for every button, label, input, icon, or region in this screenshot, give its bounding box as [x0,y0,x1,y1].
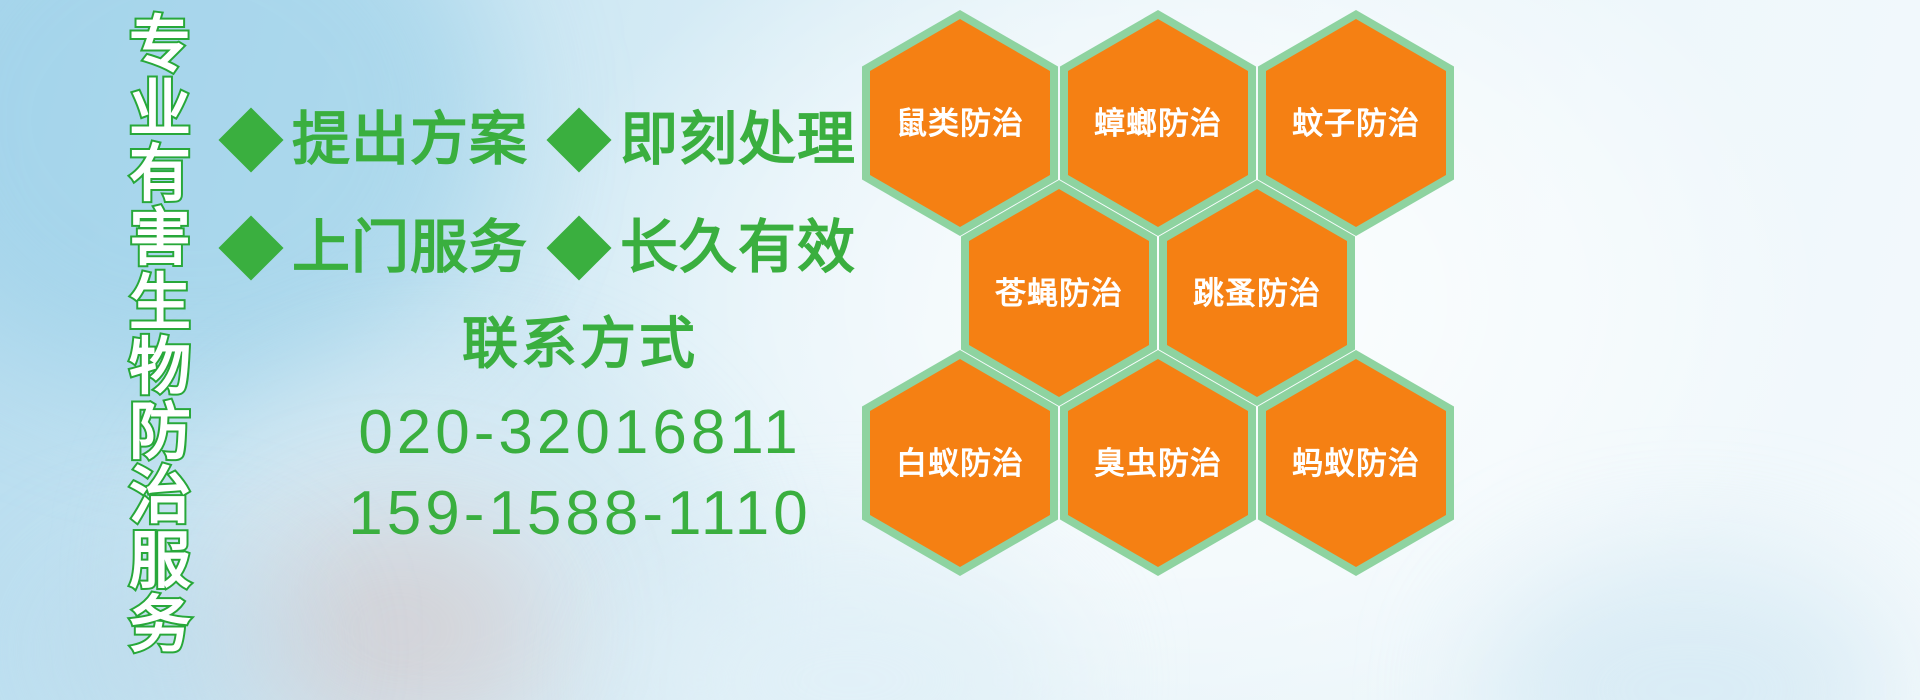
contact-title: 联系方式 [300,310,860,377]
feature-label: 上门服务 [292,219,528,277]
feature-row: 上门服务 长久有效 [228,194,868,302]
vertical-headline-char: 防 [129,401,191,465]
service-honeycomb: 鼠类防治蟑螂防治蚊子防治苍蝇防治跳蚤防治白蚁防治臭虫防治蚂蚁防治 [862,0,1462,700]
diamond-icon [218,107,283,172]
vertical-headline-char: 服 [129,530,191,594]
service-hexagon-label: 蚊子防治 [1292,108,1420,139]
vertical-headline-char: 业 [129,78,191,142]
service-hexagon-label: 蟑螂防治 [1094,108,1222,139]
diamond-icon [218,215,283,280]
vertical-headline-char: 生 [129,272,191,336]
service-hexagon-label: 臭虫防治 [1094,448,1222,479]
feature-item-immediate-handling: 即刻处理 [556,111,856,169]
feature-row: 提出方案 即刻处理 [228,86,868,194]
feature-label: 提出方案 [292,111,528,169]
phone-number-mobile[interactable]: 159-1588-1110 [300,474,860,555]
diamond-icon [546,215,611,280]
vertical-headline: 专业有害生物防治服务 [108,14,212,574]
vertical-headline-char: 害 [129,207,191,271]
vertical-headline-char: 专 [129,14,191,78]
service-hexagon-label: 鼠类防治 [896,108,1024,139]
service-hexagon-label: 跳蚤防治 [1193,278,1321,309]
feature-item-propose-plan: 提出方案 [228,111,528,169]
background-blob [1480,560,1900,700]
service-hexagon-label: 白蚁防治 [896,448,1024,479]
vertical-headline-char: 治 [129,465,191,529]
feature-item-door-to-door-service: 上门服务 [228,219,528,277]
feature-item-long-lasting-effect: 长久有效 [556,219,856,277]
feature-label: 即刻处理 [620,111,856,169]
vertical-headline-char: 物 [129,336,191,400]
feature-label: 长久有效 [620,219,856,277]
feature-list: 提出方案 即刻处理 上门服务 长久有效 [228,86,868,302]
vertical-headline-char: 有 [129,143,191,207]
contact-block: 联系方式 020-32016811 159-1588-1110 [300,310,860,554]
pest-control-banner: 专业有害生物防治服务 提出方案 即刻处理 上门服务 长久有效 [0,0,1920,700]
service-hexagon-label: 苍蝇防治 [995,278,1123,309]
phone-number-landline[interactable]: 020-32016811 [300,393,860,474]
service-hexagon-label: 蚂蚁防治 [1292,448,1420,479]
diamond-icon [546,107,611,172]
vertical-headline-char: 务 [129,594,191,658]
